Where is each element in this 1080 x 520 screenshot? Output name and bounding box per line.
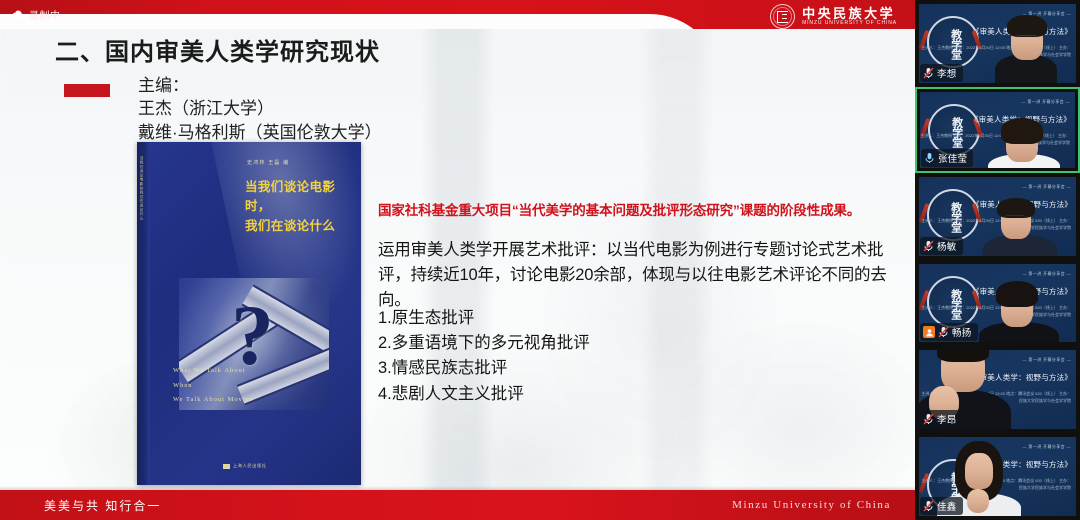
participant-name: 佳鑫: [937, 499, 957, 513]
video-tile[interactable]: — 第一讲 开幕分享会 — 《审美人类学：视野与方法》 主讲人：王杰教授 时间：…: [915, 346, 1080, 433]
participant-name-chip: 张佳莹: [921, 149, 973, 167]
glasses-icon: [1016, 35, 1038, 41]
course-emblem-icon: 教学堂: [927, 16, 979, 68]
university-logo: 中央民族大学 MINZU UNIVERSITY OF CHINA: [770, 4, 897, 29]
course-emblem-icon: 教学堂: [928, 104, 980, 156]
book-title-cn: 当我们谈论电影时， 我们在谈论什么: [245, 178, 361, 236]
book-publisher: 上海人民出版社: [223, 463, 267, 469]
editor-name-1: 王杰（浙江大学）: [138, 97, 382, 120]
university-name-cn: 中央民族大学: [802, 7, 897, 20]
mic-muted-icon: [923, 500, 934, 512]
book-spine: 当我们谈论电影时我们在谈论什么: [137, 142, 150, 485]
book-cover-image: 当我们谈论电影时我们在谈论什么 史鸿林 王磊 编 当我们谈论电影时， 我们在谈论…: [137, 142, 361, 485]
book-title-cn-line2: 我们在谈论什么: [245, 217, 361, 236]
slide-footer: 美美与共 知行合一 Minzu University of China: [0, 490, 915, 520]
video-tile[interactable]: 教学堂 — 第一讲 开幕分享会 — 《审美人类学：视野与方法》 主讲人：王杰教授…: [915, 173, 1080, 260]
video-tile[interactable]: 教学堂 — 第一讲 开幕分享会 — 《审美人类学：视野与方法》 主讲人：王杰教授…: [915, 433, 1080, 520]
header-curve-decoration: [0, 14, 720, 29]
book-title-en-line2: When: [173, 379, 253, 394]
tile-slide-heading: — 第一讲 开幕分享会 —: [1022, 184, 1071, 190]
participant-name: 李昂: [937, 412, 957, 426]
book-authors: 史鸿林 王磊 编: [247, 159, 289, 166]
participant-name: 张佳莹: [938, 151, 967, 165]
list-item: 2.多重语境下的多元视角批评: [378, 331, 590, 356]
participant-hair: [1007, 15, 1047, 37]
book-title-en-line1: What We Talk About: [173, 364, 253, 379]
criticism-type-list: 1.原生态批评 2.多重语境下的多元视角批评 3.情感民族志批评 4.悲剧人文主…: [378, 306, 590, 407]
body-paragraph: 运用审美人类学开展艺术批评：以当代电影为例进行专题讨论式艺术批评，持续近10年，…: [378, 238, 890, 313]
list-item: 1.原生态批评: [378, 306, 590, 331]
mic-active-icon: [924, 152, 935, 164]
course-emblem-icon: 教学堂: [927, 189, 979, 241]
participant-name: 杨敏: [937, 239, 957, 253]
tile-slide-meta: 主讲人：王杰教授 时间：2022年6月30日 12:00 地点：腾讯会议 620…: [920, 132, 1070, 146]
video-tile[interactable]: 教学堂 — 第一讲 开幕分享会 — 《审美人类学：视野与方法》 主讲人：王杰教授…: [915, 260, 1080, 347]
book-spine-text: 当我们谈论电影时我们在谈论什么: [140, 156, 145, 221]
cloud-recording-icon: [12, 10, 24, 19]
recording-label: 录制中: [29, 7, 61, 22]
tile-slide-meta: 主讲人：王杰教授 时间：2022年6月30日 12:00 地点：腾讯会议 620…: [919, 217, 1071, 231]
mic-muted-icon: [923, 413, 934, 425]
participant-hair: [1001, 118, 1043, 144]
tile-slide-meta: 主讲人：王杰教授 时间：2022年6月30日 12:00 地点：腾讯会议 620…: [919, 304, 1071, 318]
participant-hand: [967, 489, 989, 513]
host-badge-icon: [923, 326, 935, 338]
shared-screen-slide: 录制中 中央民族大学 MINZU UNIVERSITY OF CHINA 二、国…: [0, 0, 915, 520]
tile-slide-heading: — 第一讲 开幕分享会 —: [1021, 99, 1070, 105]
participant-name-chip: 畅扬: [920, 323, 978, 341]
mic-muted-icon: [923, 240, 934, 252]
list-item: 3.情感民族志批评: [378, 356, 590, 381]
participant-name: 李想: [937, 66, 957, 80]
participant-name-chip: 李昂: [920, 410, 963, 428]
editor-name-2: 戴维·马格利斯（英国伦敦大学）: [138, 121, 382, 144]
editor-heading: 主编：: [138, 74, 382, 97]
tile-slide-heading: — 第一讲 开幕分享会 —: [1022, 444, 1071, 450]
mic-muted-icon: [938, 326, 949, 338]
slide-title: 二、国内审美人类学研究现状: [55, 32, 380, 67]
book-title-en: What We Talk About When We Talk About Mo…: [173, 364, 253, 408]
footer-motto: 美美与共 知行合一: [44, 497, 161, 514]
tile-slide-heading: — 第一讲 开幕分享会 —: [1022, 357, 1071, 363]
tile-slide-meta: 主讲人：王杰教授 时间：2022年6月30日 12:00 地点：腾讯会议 620…: [919, 44, 1071, 58]
participant-hair: [937, 350, 989, 362]
participant-name-chip: 杨敏: [920, 237, 963, 255]
course-emblem-icon: 教学堂: [927, 276, 979, 328]
participant-video-rail[interactable]: 教学堂 — 第一讲 开幕分享会 — 《审美人类学：视野与方法》 主讲人：王杰教授…: [915, 0, 1080, 520]
editor-info-block: 主编： 王杰（浙江大学） 戴维·马格利斯（英国伦敦大学）: [138, 74, 382, 144]
glasses-icon: [1005, 215, 1026, 221]
participant-name: 畅扬: [952, 325, 972, 339]
tile-slide-course: 《审美人类学：视野与方法》: [972, 372, 1072, 383]
video-tile[interactable]: 教学堂 — 第一讲 开幕分享会 — 《审美人类学：视野与方法》 主讲人：王杰教授…: [915, 87, 1080, 174]
publisher-logo-icon: [223, 464, 230, 469]
funding-note: 国家社科基金重大项目“当代美学的基本问题及批评形态研究”课题的阶段性成果。: [378, 199, 860, 219]
book-title-en-line3: We Talk About Movies: [173, 393, 253, 408]
university-name-en: MINZU UNIVERSITY OF CHINA: [802, 21, 897, 26]
footer-english: Minzu University of China: [732, 499, 891, 511]
tile-slide-heading: — 第一讲 开幕分享会 —: [1022, 271, 1071, 277]
red-bullet-marker: [64, 84, 110, 97]
video-tile[interactable]: 教学堂 — 第一讲 开幕分享会 — 《审美人类学：视野与方法》 主讲人：王杰教授…: [915, 0, 1080, 87]
list-item: 4.悲剧人文主义批评: [378, 382, 590, 407]
publisher-name: 上海人民出版社: [233, 463, 267, 469]
participant-name-chip: 佳鑫: [920, 497, 963, 515]
participant-face-front: [965, 453, 993, 489]
app-root: 录制中 中央民族大学 MINZU UNIVERSITY OF CHINA 二、国…: [0, 0, 1080, 520]
mic-muted-icon: [923, 67, 934, 79]
participant-hair: [996, 281, 1038, 307]
book-title-cn-line1: 当我们谈论电影时，: [245, 178, 361, 217]
university-seal-icon: [770, 4, 795, 29]
recording-indicator: 录制中: [12, 7, 61, 22]
participant-name-chip: 李想: [920, 64, 963, 82]
